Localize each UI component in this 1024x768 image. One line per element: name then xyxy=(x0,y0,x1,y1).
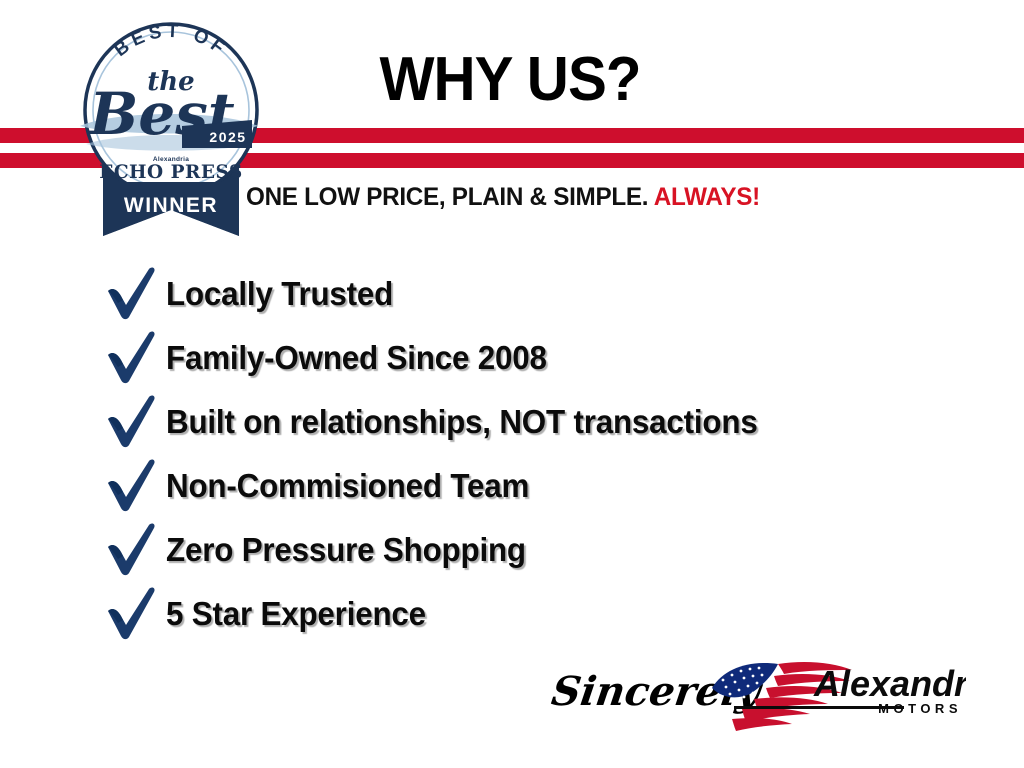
subtitle: ONE LOW PRICE, PLAIN & SIMPLE. ALWAYS! xyxy=(246,183,760,212)
page-title: WHY US? xyxy=(303,44,717,115)
subtitle-main: ONE LOW PRICE, PLAIN & SIMPLE. xyxy=(246,183,648,211)
list-item-label: Zero Pressure Shopping xyxy=(166,531,526,569)
checkmark-icon xyxy=(104,587,166,641)
checkmark-icon xyxy=(104,459,166,513)
slide-canvas: BEST OF the Best 2025 Alexandria ECHO PR… xyxy=(0,0,1024,768)
subtitle-accent: ALWAYS! xyxy=(654,183,760,211)
logo-wordmark: Alexandria xyxy=(813,663,966,704)
checkmark-icon xyxy=(104,331,166,385)
benefits-checklist: Locally Trusted Family-Owned Since 2008 … xyxy=(104,262,1004,646)
checkmark-icon xyxy=(104,267,166,321)
list-item: Locally Trusted xyxy=(104,262,1004,326)
list-item-label: Built on relationships, NOT transactions xyxy=(166,403,758,441)
list-item: Zero Pressure Shopping xyxy=(104,518,1004,582)
checkmark-icon xyxy=(104,523,166,577)
list-item-label: Non-Commisioned Team xyxy=(166,467,529,505)
list-item: 5 Star Experience xyxy=(104,582,1004,646)
list-item-label: 5 Star Experience xyxy=(166,595,426,633)
list-item: Family-Owned Since 2008 xyxy=(104,326,1004,390)
alexandria-motors-logo: Alexandria MOTORS xyxy=(706,654,966,732)
list-item-label: Family-Owned Since 2008 xyxy=(166,339,547,377)
list-item-label: Locally Trusted xyxy=(166,275,393,313)
checkmark-icon xyxy=(104,395,166,449)
badge-publisher: ECHO PRESS xyxy=(99,162,243,183)
badge-year: 2025 xyxy=(209,129,246,145)
list-item: Non-Commisioned Team xyxy=(104,454,1004,518)
logo-subtext: MOTORS xyxy=(878,701,962,716)
list-item: Built on relationships, NOT transactions xyxy=(104,390,1004,454)
badge-ribbon-label: WINNER xyxy=(124,194,218,217)
